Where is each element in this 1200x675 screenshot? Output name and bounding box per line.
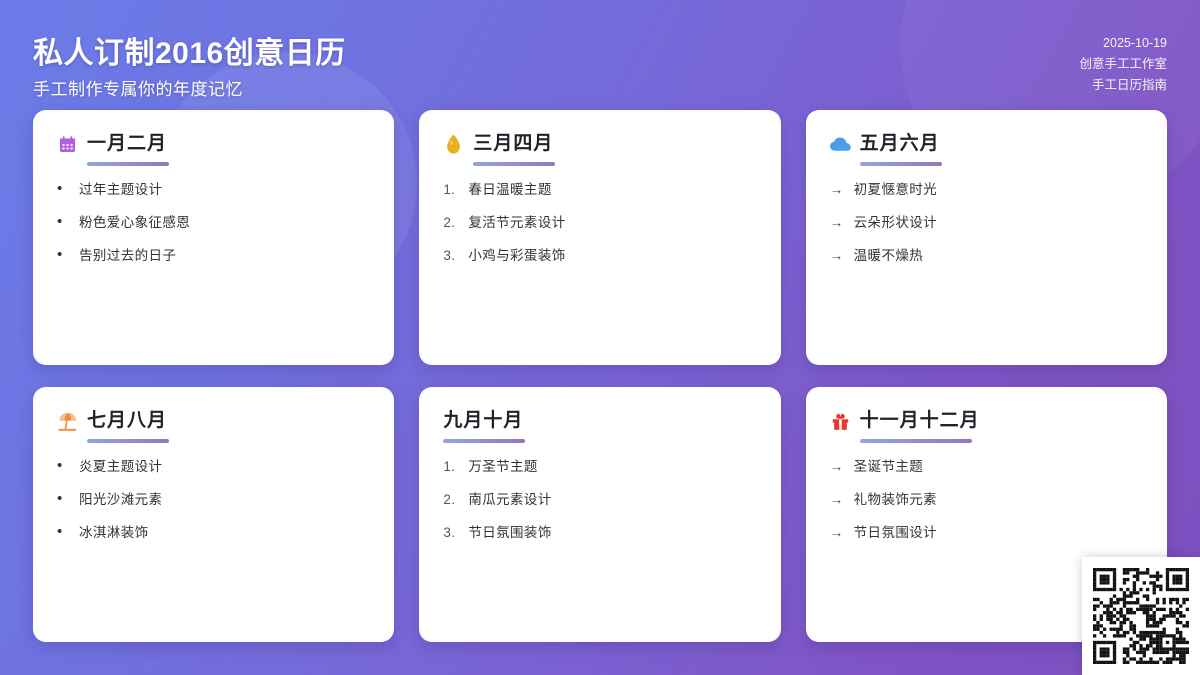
- calendar-icon: [57, 134, 78, 155]
- list-item-marker: →: [830, 180, 845, 199]
- list-item-label: 节日氛围设计: [854, 523, 1143, 542]
- card-header: 七月八月: [57, 409, 370, 433]
- list-item-marker: •: [57, 213, 70, 231]
- list-item-marker: 1.: [443, 180, 459, 199]
- list-item-label: 复活节元素设计: [468, 213, 756, 232]
- card-title-underline: [443, 439, 525, 443]
- list-item: •阳光沙滩元素: [57, 490, 370, 509]
- list-item: 2.复活节元素设计: [443, 213, 756, 232]
- list-item-marker: →: [830, 490, 845, 509]
- list-item-label: 粉色爱心象征感恩: [79, 213, 370, 232]
- card-list: 1.春日温暖主题2.复活节元素设计3.小鸡与彩蛋装饰: [443, 180, 756, 265]
- list-item-marker: →: [830, 457, 845, 476]
- list-item: →初夏惬意时光: [830, 180, 1143, 199]
- gift-icon: [830, 411, 851, 432]
- beach-umbrella-icon: [57, 411, 78, 432]
- list-item: →礼物装饰元素: [830, 490, 1143, 509]
- list-item: →温暖不燥热: [830, 246, 1143, 265]
- month-card-grid: 一月二月•过年主题设计•粉色爱心象征感恩•告别过去的日子三月四月1.春日温暖主题…: [33, 110, 1167, 642]
- card-title-underline: [87, 162, 169, 166]
- page-title: 私人订制2016创意日历: [33, 28, 346, 72]
- card-title: 五月六月: [860, 132, 940, 156]
- cloud-icon: [830, 134, 851, 155]
- card-list: →圣诞节主题→礼物装饰元素→节日氛围设计: [830, 457, 1143, 542]
- list-item-label: 节日氛围装饰: [468, 523, 756, 542]
- list-item: •冰淇淋装饰: [57, 523, 370, 542]
- month-card[interactable]: 九月十月1.万圣节主题2.南瓜元素设计3.节日氛围装饰: [419, 387, 780, 642]
- list-item-label: 圣诞节主题: [854, 457, 1143, 476]
- list-item-label: 炎夏主题设计: [79, 457, 370, 476]
- list-item: →云朵形状设计: [830, 213, 1143, 232]
- list-item: •炎夏主题设计: [57, 457, 370, 476]
- list-item: 3.小鸡与彩蛋装饰: [443, 246, 756, 265]
- list-item: 1.万圣节主题: [443, 457, 756, 476]
- card-title: 三月四月: [473, 132, 553, 156]
- header-meta: 2025-10-19 创意手工工作室 手工日历指南: [1079, 33, 1167, 96]
- list-item: •粉色爱心象征感恩: [57, 213, 370, 232]
- card-title: 十一月十二月: [860, 409, 980, 433]
- page-subtitle: 手工制作专属你的年度记忆: [33, 75, 243, 100]
- month-card[interactable]: 一月二月•过年主题设计•粉色爱心象征感恩•告别过去的日子: [33, 110, 394, 365]
- list-item: 1.春日温暖主题: [443, 180, 756, 199]
- list-item: •告别过去的日子: [57, 246, 370, 265]
- header-org: 创意手工工作室: [1079, 54, 1167, 75]
- card-header: 九月十月: [443, 409, 756, 433]
- card-title-underline: [860, 162, 942, 166]
- list-item-label: 春日温暖主题: [468, 180, 756, 199]
- list-item-label: 阳光沙滩元素: [79, 490, 370, 509]
- list-item: →圣诞节主题: [830, 457, 1143, 476]
- egg-icon: [443, 134, 464, 155]
- card-list: →初夏惬意时光→云朵形状设计→温暖不燥热: [830, 180, 1143, 265]
- list-item-label: 过年主题设计: [79, 180, 370, 199]
- list-item-marker: →: [830, 523, 845, 542]
- month-card[interactable]: 三月四月1.春日温暖主题2.复活节元素设计3.小鸡与彩蛋装饰: [419, 110, 780, 365]
- list-item-label: 冰淇淋装饰: [79, 523, 370, 542]
- card-list: 1.万圣节主题2.南瓜元素设计3.节日氛围装饰: [443, 457, 756, 542]
- header-date: 2025-10-19: [1079, 33, 1167, 54]
- list-item: •过年主题设计: [57, 180, 370, 199]
- qr-code-panel[interactable]: [1082, 557, 1200, 675]
- slide-header: 私人订制2016创意日历 手工制作专属你的年度记忆 2025-10-19 创意手…: [0, 0, 1200, 110]
- list-item-label: 告别过去的日子: [79, 246, 370, 265]
- list-item-marker: •: [57, 523, 70, 541]
- list-item: 3.节日氛围装饰: [443, 523, 756, 542]
- card-header: 五月六月: [830, 132, 1143, 156]
- card-header: 十一月十二月: [830, 409, 1143, 433]
- card-title-underline: [860, 439, 972, 443]
- card-header: 一月二月: [57, 132, 370, 156]
- list-item-marker: •: [57, 490, 70, 508]
- list-item-marker: 2.: [443, 490, 459, 509]
- list-item-label: 南瓜元素设计: [468, 490, 756, 509]
- list-item-marker: →: [830, 246, 845, 265]
- list-item-marker: 1.: [443, 457, 459, 476]
- list-item-marker: •: [57, 457, 70, 475]
- list-item-marker: 3.: [443, 246, 459, 265]
- card-title: 一月二月: [87, 132, 167, 156]
- list-item-label: 云朵形状设计: [854, 213, 1143, 232]
- list-item-label: 小鸡与彩蛋装饰: [468, 246, 756, 265]
- card-list: •过年主题设计•粉色爱心象征感恩•告别过去的日子: [57, 180, 370, 265]
- month-card[interactable]: 七月八月•炎夏主题设计•阳光沙滩元素•冰淇淋装饰: [33, 387, 394, 642]
- card-title-underline: [87, 439, 169, 443]
- list-item-label: 礼物装饰元素: [854, 490, 1143, 509]
- card-header: 三月四月: [443, 132, 756, 156]
- list-item-marker: →: [830, 213, 845, 232]
- card-title: 七月八月: [87, 409, 167, 433]
- card-list: •炎夏主题设计•阳光沙滩元素•冰淇淋装饰: [57, 457, 370, 542]
- slide-root: 私人订制2016创意日历 手工制作专属你的年度记忆 2025-10-19 创意手…: [0, 0, 1200, 675]
- list-item-label: 万圣节主题: [468, 457, 756, 476]
- card-title-underline: [473, 162, 555, 166]
- month-card[interactable]: 五月六月→初夏惬意时光→云朵形状设计→温暖不燥热: [806, 110, 1167, 365]
- list-item-label: 温暖不燥热: [854, 246, 1143, 265]
- list-item-marker: •: [57, 246, 70, 264]
- list-item: 2.南瓜元素设计: [443, 490, 756, 509]
- list-item-marker: 2.: [443, 213, 459, 232]
- card-title: 九月十月: [443, 409, 523, 433]
- list-item-marker: •: [57, 180, 70, 198]
- header-guide: 手工日历指南: [1079, 75, 1167, 96]
- list-item: →节日氛围设计: [830, 523, 1143, 542]
- qr-code: [1093, 568, 1189, 664]
- list-item-marker: 3.: [443, 523, 459, 542]
- list-item-label: 初夏惬意时光: [854, 180, 1143, 199]
